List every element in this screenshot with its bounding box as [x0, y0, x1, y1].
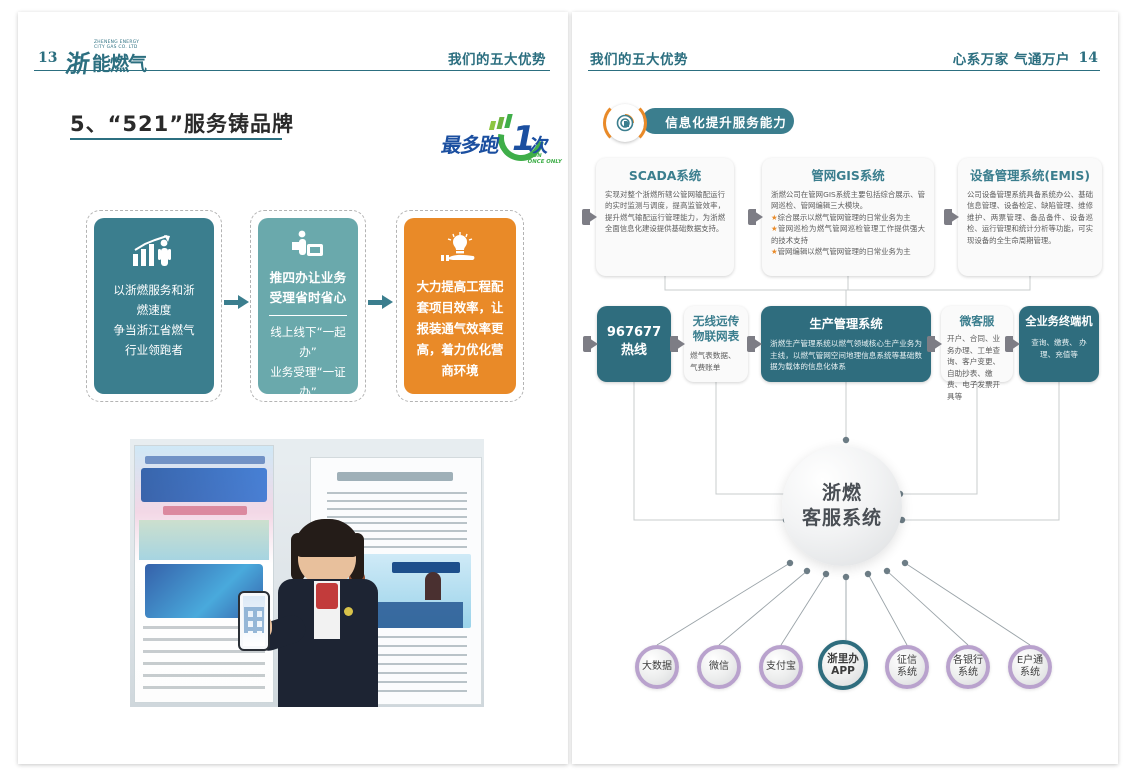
advantage-card-2-frame: 推四办让业务 受理省时省心 线上线下“一起办” 业务受理“一证办” 申请通气“马… — [250, 210, 366, 402]
production-title: 生产管理系统 — [770, 314, 922, 332]
right-header-section: 我们的五大优势 — [590, 48, 688, 68]
scada-body: 实现对整个浙燃所辖公管网输配运行的实时监测与调度，提高监管效率，提升燃气输配运行… — [605, 189, 725, 235]
hub-customer-service-system: 浙燃 客服系统 — [782, 446, 902, 566]
leaf-2-line-0: 支付宝 — [766, 661, 796, 673]
leaf-0-line-0: 大数据 — [642, 661, 672, 673]
hub-line-2: 客服系统 — [802, 506, 882, 531]
production-body: 浙燃生产管理系统以燃气领域核心生产业务为主线，以燃气管网空间地理信息系统等基础数… — [770, 338, 922, 373]
magazine-spread: 13 浙 ZHENENG ENERGY CITY GAS CO. LTD 能燃气… — [0, 0, 1135, 780]
advantage-card-1-body: 以浙燃服务和浙 燃速度 争当浙江省燃气 行业领跑者 — [94, 280, 214, 360]
gis-bullet-1: ★管网巡检为燃气管网巡检管理工作提供强大的技术支持 — [771, 223, 925, 246]
banner-left-headline — [141, 468, 267, 502]
box-tab-arrow-1-icon — [585, 209, 597, 225]
arrow-1-head-icon — [238, 295, 249, 309]
iot-meter-title: 无线远传 物联网表 — [690, 314, 742, 344]
bar-chart-person-icon — [94, 234, 214, 272]
box-tab-arrow-2-icon — [751, 209, 763, 225]
right-page-number: 14 — [1079, 50, 1098, 66]
logo-zhe-char: 浙 — [64, 44, 93, 79]
leaf-node-alipay[interactable]: 支付宝 — [759, 645, 803, 689]
star-icon-2: ★ — [771, 224, 778, 233]
card2-line-1: 业务受理“一证办” — [264, 362, 352, 402]
leaf-label-ehutong-system: E户通 系统 — [1017, 655, 1043, 679]
leaf-node-credit-system[interactable]: 征信 系统 — [885, 645, 929, 689]
leaf-label-wechat: 微信 — [709, 661, 729, 673]
row-box-iot-meter: 无线远传 物联网表 燃气表数据、 气费账单 — [684, 306, 748, 382]
leaf-node-zhelib-app[interactable]: 浙里办 APP — [818, 640, 868, 690]
advantage-card-3-frame: 大力提高工程配 套项目效率，让 报装通气效率更 高，着力优化营 商环境 — [396, 210, 524, 402]
leaf-label-alipay: 支付宝 — [766, 661, 796, 673]
leaf-4-line-1: 系统 — [897, 667, 917, 679]
banner-label: 信息化提升服务能力 — [642, 108, 794, 134]
gis-bullet-2: ★管网编辑以燃气管网管理的日常业务为主 — [771, 246, 925, 257]
person-hair — [294, 519, 360, 557]
leaf-node-big-data[interactable]: 大数据 — [635, 645, 679, 689]
system-box-gis: 管网GIS系统 浙燃公司在管网GIS系统主要包括综合展示、管网巡检、管网编辑三大… — [762, 158, 934, 276]
card1-line-0: 以浙燃服务和浙 — [100, 280, 208, 300]
banner-left-cityscape — [139, 520, 269, 560]
card3-line-3: 高，着力优化营 — [410, 339, 510, 360]
card3-line-1: 套项目效率，让 — [410, 297, 510, 318]
terminal-body: 查询、缴费、 办理、充值等 — [1024, 337, 1094, 360]
leaf-3-line-0: 浙里办 — [827, 653, 859, 665]
box-tab-arrow-3-icon — [947, 209, 959, 225]
exhibition-photo — [130, 439, 484, 707]
wechat-service-body: 开户、合同、业务办理、工单查询、客户变更、自助抄表、缴费、电子发票开具等 — [947, 333, 1007, 403]
hotline-label: 热线 — [597, 342, 671, 360]
left-page-number: 13 — [38, 50, 57, 66]
logo-sub-en3: ONLY — [546, 159, 563, 165]
leaf-node-ehutong-system[interactable]: E户通 系统 — [1008, 645, 1052, 689]
hub-line-1: 浙燃 — [802, 481, 882, 506]
hub-label: 浙燃 客服系统 — [802, 481, 882, 531]
service-counter-icon — [258, 230, 358, 264]
section-title-underline — [70, 138, 282, 140]
card1-line-1: 燃速度 — [100, 300, 208, 320]
card2-line-0: 线上线下“一起办” — [264, 322, 352, 362]
person-tie — [316, 583, 338, 609]
run-once-logo: 最多跑 1 次 RUN ONCE ONLY — [442, 113, 564, 171]
card2-title-1: 受理省时省心 — [266, 288, 350, 308]
leaf-6-line-1: 系统 — [1017, 667, 1043, 679]
card3-line-0: 大力提高工程配 — [410, 276, 510, 297]
right-page-header: 我们的五大优势 心系万家 气通万户 14 — [572, 32, 1118, 72]
photo-banner-left — [134, 445, 274, 703]
leaf-1-line-0: 微信 — [709, 661, 729, 673]
leaf-4-line-0: 征信 — [897, 655, 917, 667]
left-page: 13 浙 ZHENENG ENERGY CITY GAS CO. LTD 能燃气… — [18, 12, 568, 764]
section-title: 5、“521”服务铸品牌 — [70, 108, 294, 138]
row-tab-arrow-1-icon — [586, 336, 598, 352]
row-tab-arrow-3-icon — [750, 336, 762, 352]
leaf-node-bank-systems[interactable]: 各银行 系统 — [946, 645, 990, 689]
gis-bullet-text-0: 综合展示以燃气管网管理的日常业务为主 — [778, 213, 911, 222]
leaf-label-bank-systems: 各银行 系统 — [953, 655, 983, 679]
illustration-person-2 — [425, 572, 441, 600]
leaf-label-big-data: 大数据 — [642, 661, 672, 673]
row-tab-arrow-4-icon — [930, 336, 942, 352]
card3-line-4: 商环境 — [410, 360, 510, 381]
leaf-node-wechat[interactable]: 微信 — [697, 645, 741, 689]
banner-right-title — [337, 472, 453, 481]
person-badge — [344, 607, 353, 616]
gis-title: 管网GIS系统 — [771, 166, 925, 184]
hotline-number: 967677 — [597, 324, 671, 342]
right-header-slogan: 心系万家 气通万户 — [953, 48, 1070, 68]
row-box-wechat-service: 微客服 开户、合同、业务办理、工单查询、客户变更、自助抄表、缴费、电子发票开具等 — [941, 306, 1013, 382]
logo-main-text: 最多跑 — [439, 129, 501, 158]
iot-meter-body: 燃气表数据、 气费账单 — [690, 350, 742, 373]
photo-smartphone — [238, 591, 270, 651]
leaf-5-line-0: 各银行 — [953, 655, 983, 667]
logo-sub-en2: ONCE — [527, 159, 545, 165]
wechat-service-title: 微客服 — [947, 313, 1007, 329]
logo-cn-text: 能燃气 — [92, 49, 146, 76]
row-tab-arrow-5-icon — [1008, 336, 1020, 352]
banner-left-subhead — [163, 506, 247, 515]
card1-line-2: 争当浙江省燃气 — [100, 320, 208, 340]
leaf-label-credit-system: 征信 系统 — [897, 655, 917, 679]
photo-person — [272, 523, 384, 707]
card1-line-3: 行业领跑者 — [100, 340, 208, 360]
leaf-3-line-1: APP — [827, 665, 859, 677]
card2-line-2: 申请通气“马上办” — [264, 402, 352, 442]
phone-app-grid — [244, 607, 264, 633]
card2-title-0: 推四办让业务 — [266, 268, 350, 288]
left-page-header: 13 浙 ZHENENG ENERGY CITY GAS CO. LTD 能燃气… — [18, 32, 568, 72]
leaf-label-zhelib-app: 浙里办 APP — [827, 653, 859, 677]
card3-line-2: 报装通气效率更 — [410, 318, 510, 339]
hotline-title: 967677 热线 — [597, 306, 671, 360]
row-box-terminal: 全业务终端机 查询、缴费、 办理、充值等 — [1019, 306, 1099, 382]
advantage-card-1-frame: 以浙燃服务和浙 燃速度 争当浙江省燃气 行业领跑者 — [86, 210, 222, 402]
system-box-emis: 设备管理系统(EMIS) 公司设备管理系统具备系统办公、基础信息管理、设备检定、… — [958, 158, 1102, 276]
gis-bullet-0: ★综合展示以燃气管网管理的日常业务为主 — [771, 212, 925, 223]
gis-body: 浙燃公司在管网GIS系统主要包括综合展示、管网巡检、管网编辑三大模块。 — [771, 189, 925, 212]
iot-meter-title-0: 无线远传 — [690, 314, 742, 329]
left-header-rule — [34, 70, 550, 71]
row-box-production: 生产管理系统 浙燃生产管理系统以燃气领域核心生产业务为主线，以燃气管网空间地理信… — [761, 306, 931, 382]
terminal-title: 全业务终端机 — [1024, 313, 1094, 329]
iot-meter-title-1: 物联网表 — [690, 329, 742, 344]
logo-sub-en: RUN ONCE ONLY — [527, 153, 563, 165]
card2-divider — [269, 315, 347, 316]
left-header-section: 我们的五大优势 — [448, 48, 546, 68]
banner-icon-ring — [603, 101, 647, 145]
scada-title: SCADA系统 — [605, 166, 725, 184]
star-icon-1: ★ — [771, 213, 778, 222]
row-box-hotline: 967677 热线 — [597, 306, 671, 382]
company-logo: 浙 ZHENENG ENERGY CITY GAS CO. LTD 能燃气 — [66, 40, 174, 72]
advantage-card-2-title: 推四办让业务 受理省时省心 — [258, 268, 358, 308]
banner-left-header — [145, 456, 265, 464]
advantage-card-3-body: 大力提高工程配 套项目效率，让 报装通气效率更 高，着力优化营 商环境 — [404, 276, 516, 381]
leaf-6-line-0: E户通 — [1017, 655, 1043, 667]
leaf-5-line-1: 系统 — [953, 667, 983, 679]
illustration-sign — [392, 562, 460, 573]
advantage-card-2: 推四办让业务 受理省时省心 线上线下“一起办” 业务受理“一证办” 申请通气“马… — [258, 218, 358, 394]
star-icon-3: ★ — [771, 247, 778, 256]
right-header-rule — [588, 70, 1100, 71]
lightbulb-hand-icon — [404, 232, 516, 270]
advantage-card-3: 大力提高工程配 套项目效率，让 报装通气效率更 高，着力优化营 商环境 — [404, 218, 516, 394]
gis-bullet-text-1: 管网巡检为燃气管网巡检管理工作提供强大的技术支持 — [771, 224, 925, 244]
banner-right-text-1 — [327, 492, 467, 518]
gis-bullet-text-2: 管网编辑以燃气管网管理的日常业务为主 — [778, 247, 911, 256]
row-tab-arrow-2-icon — [673, 336, 685, 352]
advantage-card-1: 以浙燃服务和浙 燃速度 争当浙江省燃气 行业领跑者 — [94, 218, 214, 394]
arrow-2-head-icon — [382, 295, 393, 309]
system-box-scada: SCADA系统 实现对整个浙燃所辖公管网输配运行的实时监测与调度，提高监管效率，… — [596, 158, 734, 276]
emis-body: 公司设备管理系统具备系统办公、基础信息管理、设备检定、缺陷管理、维修维护、两票管… — [967, 189, 1093, 246]
emis-title: 设备管理系统(EMIS) — [967, 166, 1093, 184]
